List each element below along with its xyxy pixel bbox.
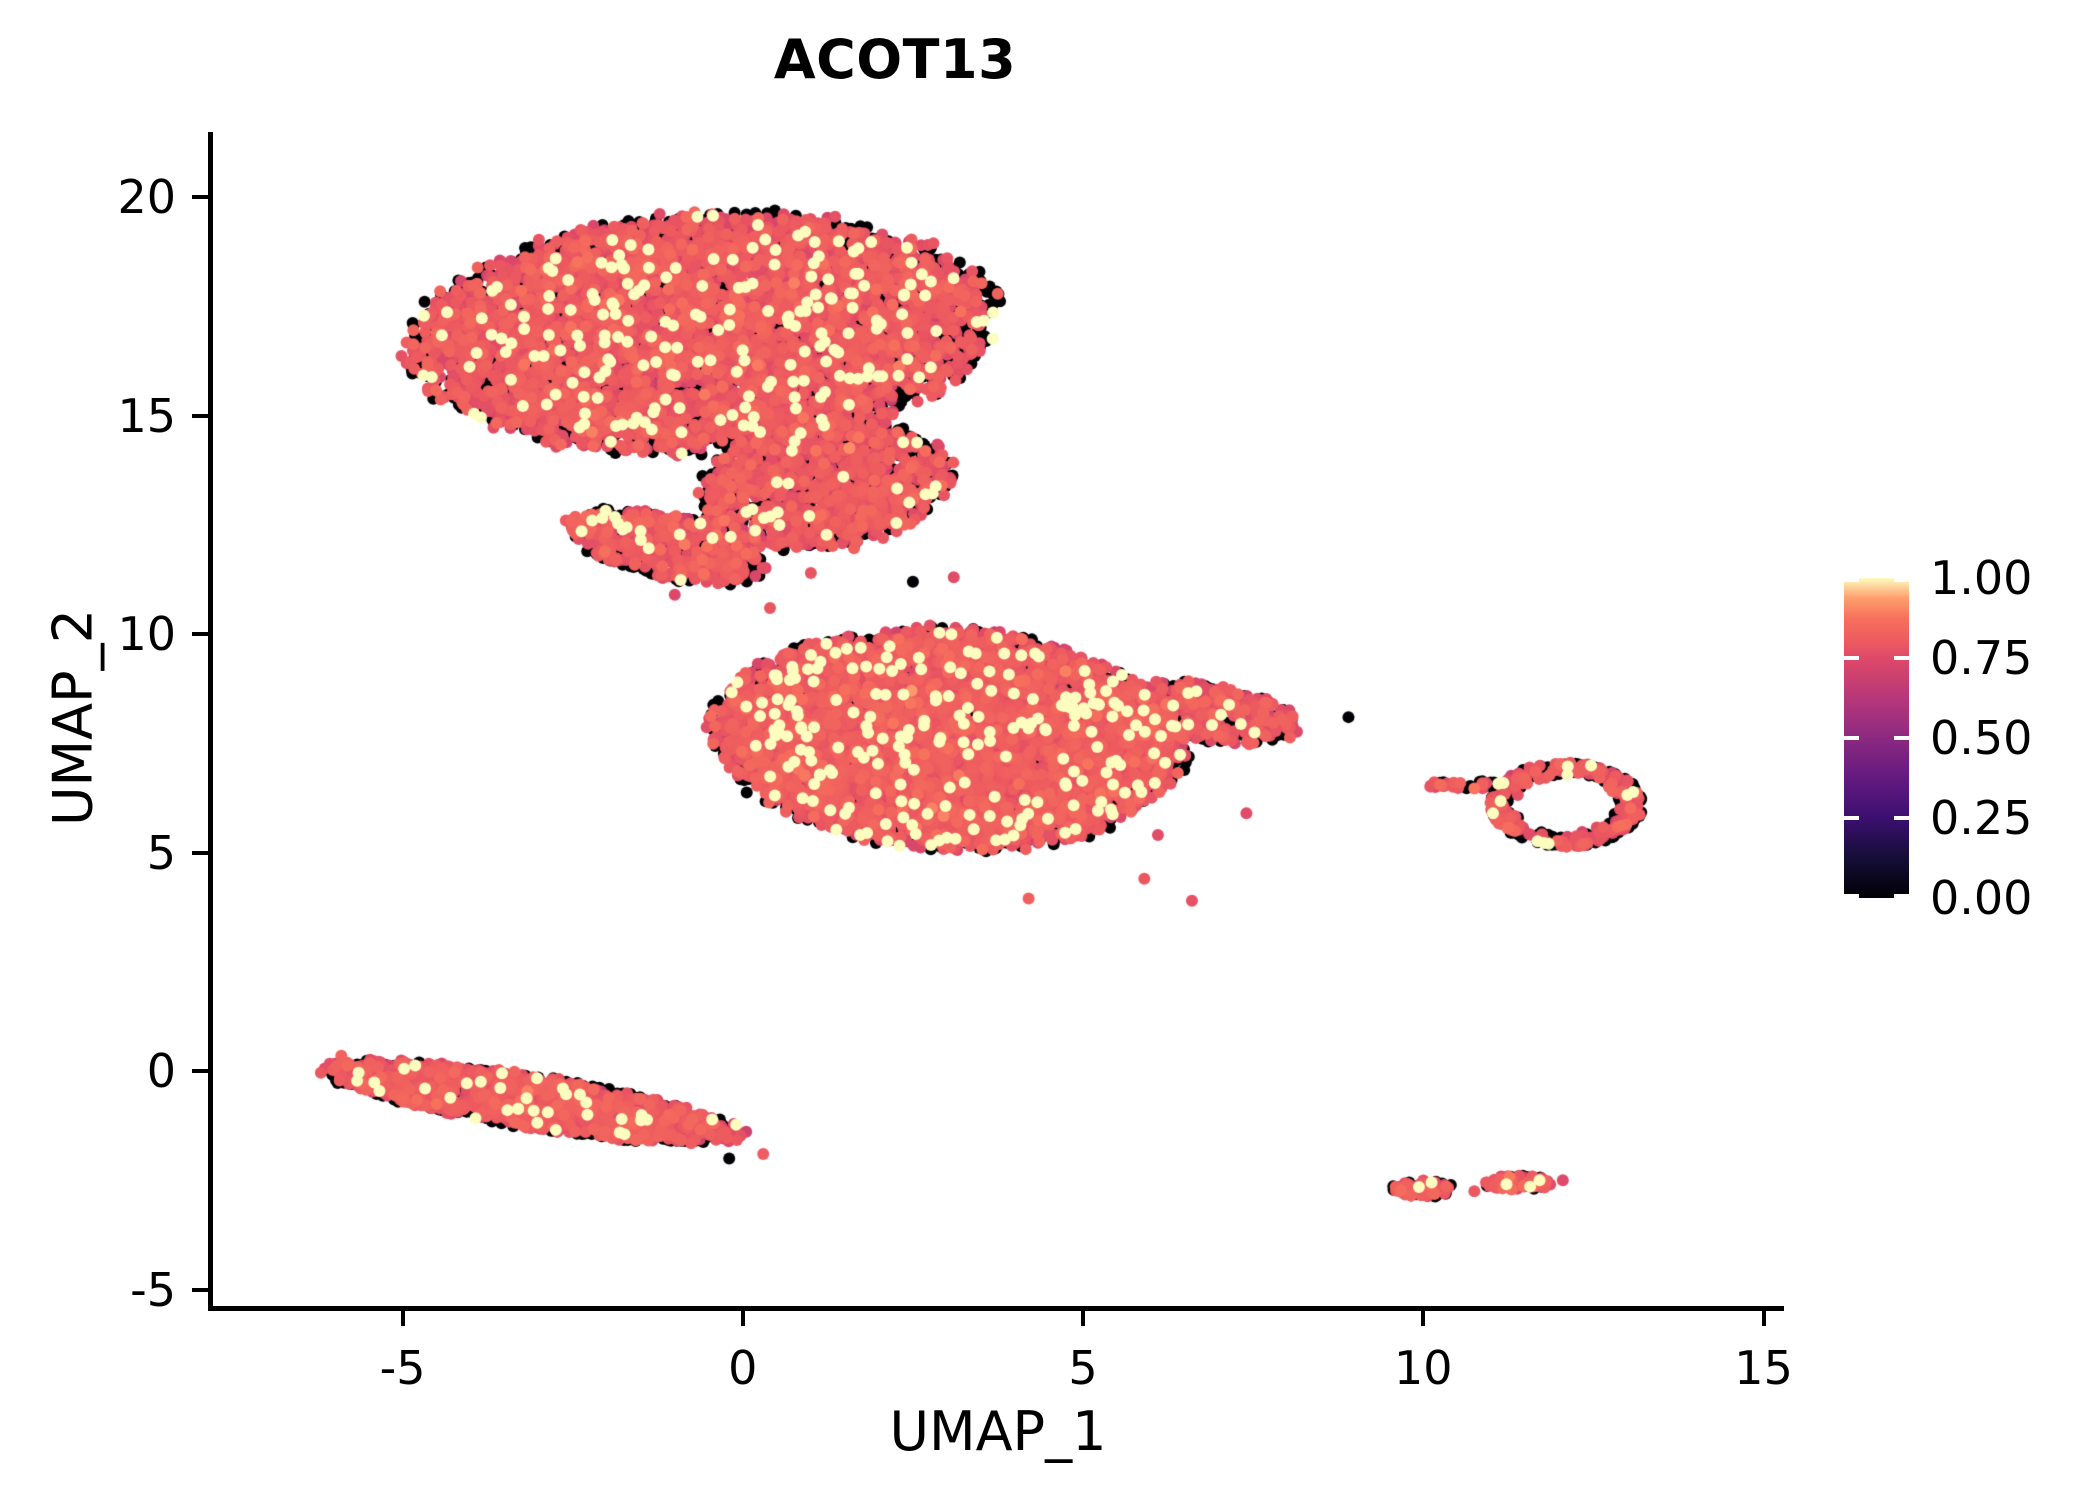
y-tick-label: -5 xyxy=(0,1263,176,1317)
colorbar-tick-label: 0.50 xyxy=(1930,711,2032,765)
y-tick-mark xyxy=(192,1288,209,1292)
x-tick-label: 10 xyxy=(1343,1341,1503,1395)
colorbar-tick-label: 0.00 xyxy=(1930,871,2032,925)
colorbar-tick-mark xyxy=(1844,894,1909,898)
colorbar-tick-mark xyxy=(1844,578,1909,582)
y-tick-mark xyxy=(192,851,209,855)
x-tick-mark xyxy=(1421,1310,1425,1326)
x-axis-label: UMAP_1 xyxy=(212,1400,1784,1463)
y-tick-mark xyxy=(192,632,209,636)
x-tick-mark xyxy=(741,1310,745,1326)
colorbar-tick-mark xyxy=(1844,816,1909,820)
x-tick-label: 0 xyxy=(663,1341,823,1395)
colorbar-tick-mark xyxy=(1844,656,1909,660)
x-tick-label: 15 xyxy=(1684,1341,1844,1395)
colorbar-tick-label: 0.75 xyxy=(1930,631,2032,685)
x-tick-label: 5 xyxy=(1003,1341,1163,1395)
y-axis-label: UMAP_2 xyxy=(42,318,105,1118)
y-tick-mark xyxy=(192,195,209,199)
y-axis-spine xyxy=(208,132,213,1307)
y-tick-mark xyxy=(192,1069,209,1073)
page-title: ACOT13 xyxy=(0,28,1790,91)
colorbar-tick-label: 1.00 xyxy=(1930,551,2032,605)
umap-figure: ACOT13 -5051015 -505101520 UMAP_1 UMAP_2… xyxy=(0,0,2100,1500)
colorbar-tick-mark xyxy=(1844,736,1909,740)
x-tick-mark xyxy=(1762,1310,1766,1326)
x-tick-label: -5 xyxy=(323,1341,483,1395)
plot-axes: -5051015 -505101520 xyxy=(212,136,1784,1307)
x-axis-spine xyxy=(208,1306,1784,1311)
x-tick-mark xyxy=(1081,1310,1085,1326)
y-tick-label: 20 xyxy=(0,170,176,224)
y-tick-mark xyxy=(192,414,209,418)
colorbar-tick-label: 0.25 xyxy=(1930,791,2032,845)
x-tick-mark xyxy=(401,1310,405,1326)
scatter-point-cloud xyxy=(212,136,1784,1307)
